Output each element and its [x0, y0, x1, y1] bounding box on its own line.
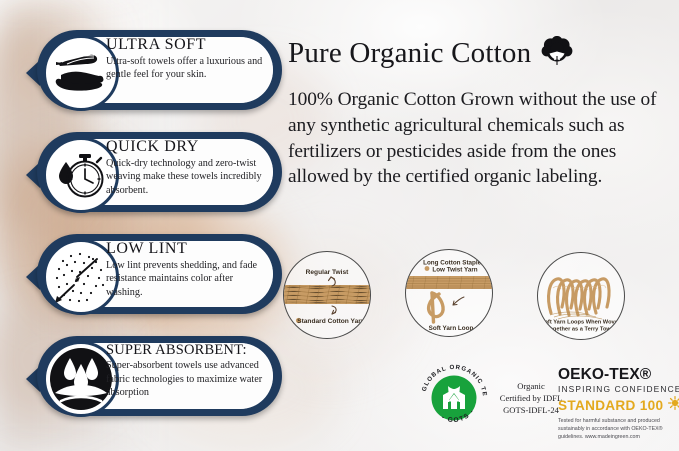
- yarn-top-label-2: Low Twist Yarn: [432, 267, 477, 274]
- yarn-bottom-label: Standard Cotton Yarn: [297, 318, 365, 325]
- oekotex-standard: STANDARD 100: [558, 399, 663, 413]
- feature-description: Super-absorbent towels use advanced fabr…: [106, 359, 268, 400]
- feature-card-low-lint: LOW LINT Low lint prevents shedding, and…: [26, 234, 282, 319]
- yarn-top-label-1: Long Cotton Staple,: [423, 260, 483, 267]
- yarn-diagram-group: Regular Twist Standard Cotton Yarn: [283, 249, 675, 341]
- yarn-bottom-label: Soft Yarn Loop: [429, 325, 474, 332]
- yarn-diagram-regular-twist: Regular Twist Standard Cotton Yarn: [283, 251, 371, 339]
- yarn-bottom-label-2: Together as a Terry Towel: [546, 327, 616, 333]
- feature-title: QUICK DRY: [106, 139, 268, 156]
- sunburst-icon: [668, 396, 679, 415]
- main-content: Pure Organic Cotton: [288, 36, 666, 190]
- cotton-boll-icon: [541, 36, 573, 71]
- feature-card-super-absorbent: SUPER ABSORBENT: Super-absorbent towels …: [26, 336, 282, 421]
- feature-description: Low lint prevents shedding, and fade res…: [106, 259, 268, 300]
- oekotex-badge: OEKO-TEX® INSPIRING CONFIDENCE STANDARD …: [558, 367, 678, 442]
- gots-caption-line1: Organic: [496, 380, 566, 392]
- yarn-diagram-low-twist: Long Cotton Staple, Low Twist Yarn Soft …: [405, 249, 493, 337]
- feature-title: SUPER ABSORBENT:: [106, 343, 268, 358]
- feature-card-quick-dry: QUICK DRY Quick-dry technology and zero-…: [26, 132, 282, 217]
- certification-row: GLOBAL ORGANIC TEXTILE STANDARD - GOTS -…: [418, 362, 676, 446]
- yarn-top-label: Regular Twist: [306, 269, 350, 276]
- yarn-bottom-label-1: Soft Yarn Loops When Woven: [541, 320, 622, 326]
- yarn-diagram-terry-loops: Soft Yarn Loops When Woven Together as a…: [537, 252, 625, 340]
- feature-title: ULTRA SOFT: [106, 37, 268, 54]
- feature-list: ULTRA SOFT Ultra-soft towels offer a lux…: [26, 30, 282, 438]
- page-title: Pure Organic Cotton: [288, 36, 666, 71]
- gots-caption-line3: GOTS-IDFL-24: [496, 404, 566, 416]
- feature-description: Quick-dry technology and zero-twist weav…: [106, 157, 268, 198]
- headline-text: Pure Organic Cotton: [288, 39, 531, 68]
- lede-paragraph: 100% Organic Cotton Grown without the us…: [288, 87, 666, 190]
- gots-caption: Organic Certified by IDFL GOTS-IDFL-24: [496, 380, 566, 417]
- oekotex-brand: OEKO-TEX®: [558, 367, 678, 383]
- gots-seal-icon: GLOBAL ORGANIC TEXTILE STANDARD - GOTS -: [418, 362, 490, 434]
- feature-title: LOW LINT: [106, 241, 268, 258]
- gots-caption-line2: Certified by IDFL: [496, 392, 566, 404]
- oekotex-tagline: INSPIRING CONFIDENCE: [558, 385, 678, 393]
- feature-card-ultra-soft: ULTRA SOFT Ultra-soft towels offer a lux…: [26, 30, 282, 115]
- feature-description: Ultra-soft towels offer a luxurious and …: [106, 55, 268, 82]
- oekotex-url: www.madeingreen.com: [585, 434, 640, 440]
